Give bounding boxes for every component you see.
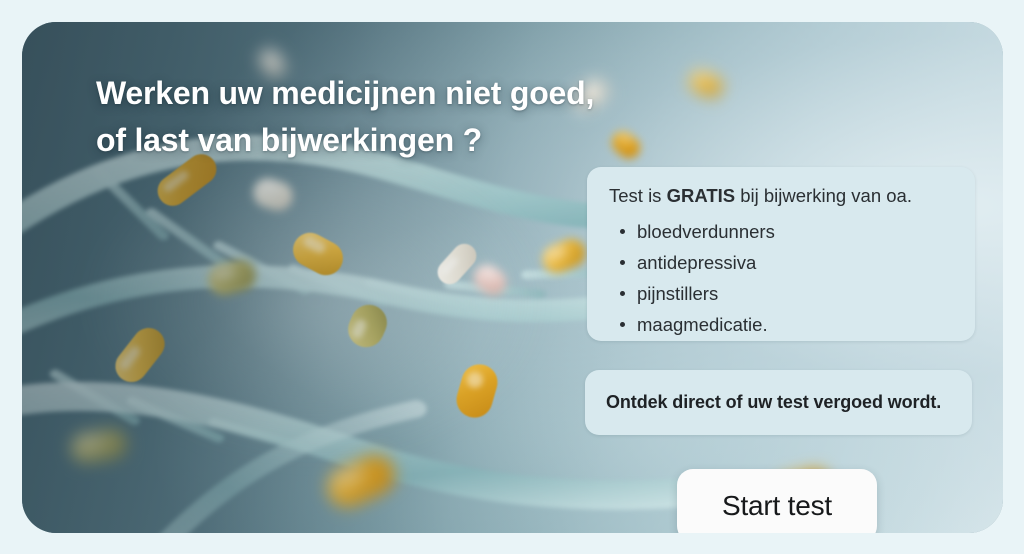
benefits-lead-suffix: bij bijwerking van oa. (735, 185, 912, 206)
page-title: Werken uw medicijnen niet goed, of last … (96, 70, 696, 164)
list-item: bloedverdunners (637, 216, 953, 247)
headline-line-2: of last van bijwerkingen ? (96, 117, 696, 164)
list-item: maagmedicatie. (637, 309, 953, 340)
start-test-button[interactable]: Start test (677, 469, 877, 533)
benefits-lead-emphasis: GRATIS (667, 185, 736, 206)
list-item: antidepressiva (637, 247, 953, 278)
headline-line-1: Werken uw medicijnen niet goed, (96, 70, 696, 117)
benefits-lead-prefix: Test is (609, 185, 667, 206)
promo-banner: Werken uw medicijnen niet goed, of last … (22, 22, 1003, 533)
list-item: pijnstillers (637, 278, 953, 309)
reimbursement-text: Ontdek direct of uw test vergoed wordt. (606, 392, 941, 413)
benefits-lead-text: Test is GRATIS bij bijwerking van oa. (609, 184, 953, 207)
reimbursement-card: Ontdek direct of uw test vergoed wordt. (585, 370, 972, 435)
benefits-card: Test is GRATIS bij bijwerking van oa. bl… (587, 167, 975, 341)
benefits-list: bloedverdunners antidepressiva pijnstill… (609, 216, 953, 340)
